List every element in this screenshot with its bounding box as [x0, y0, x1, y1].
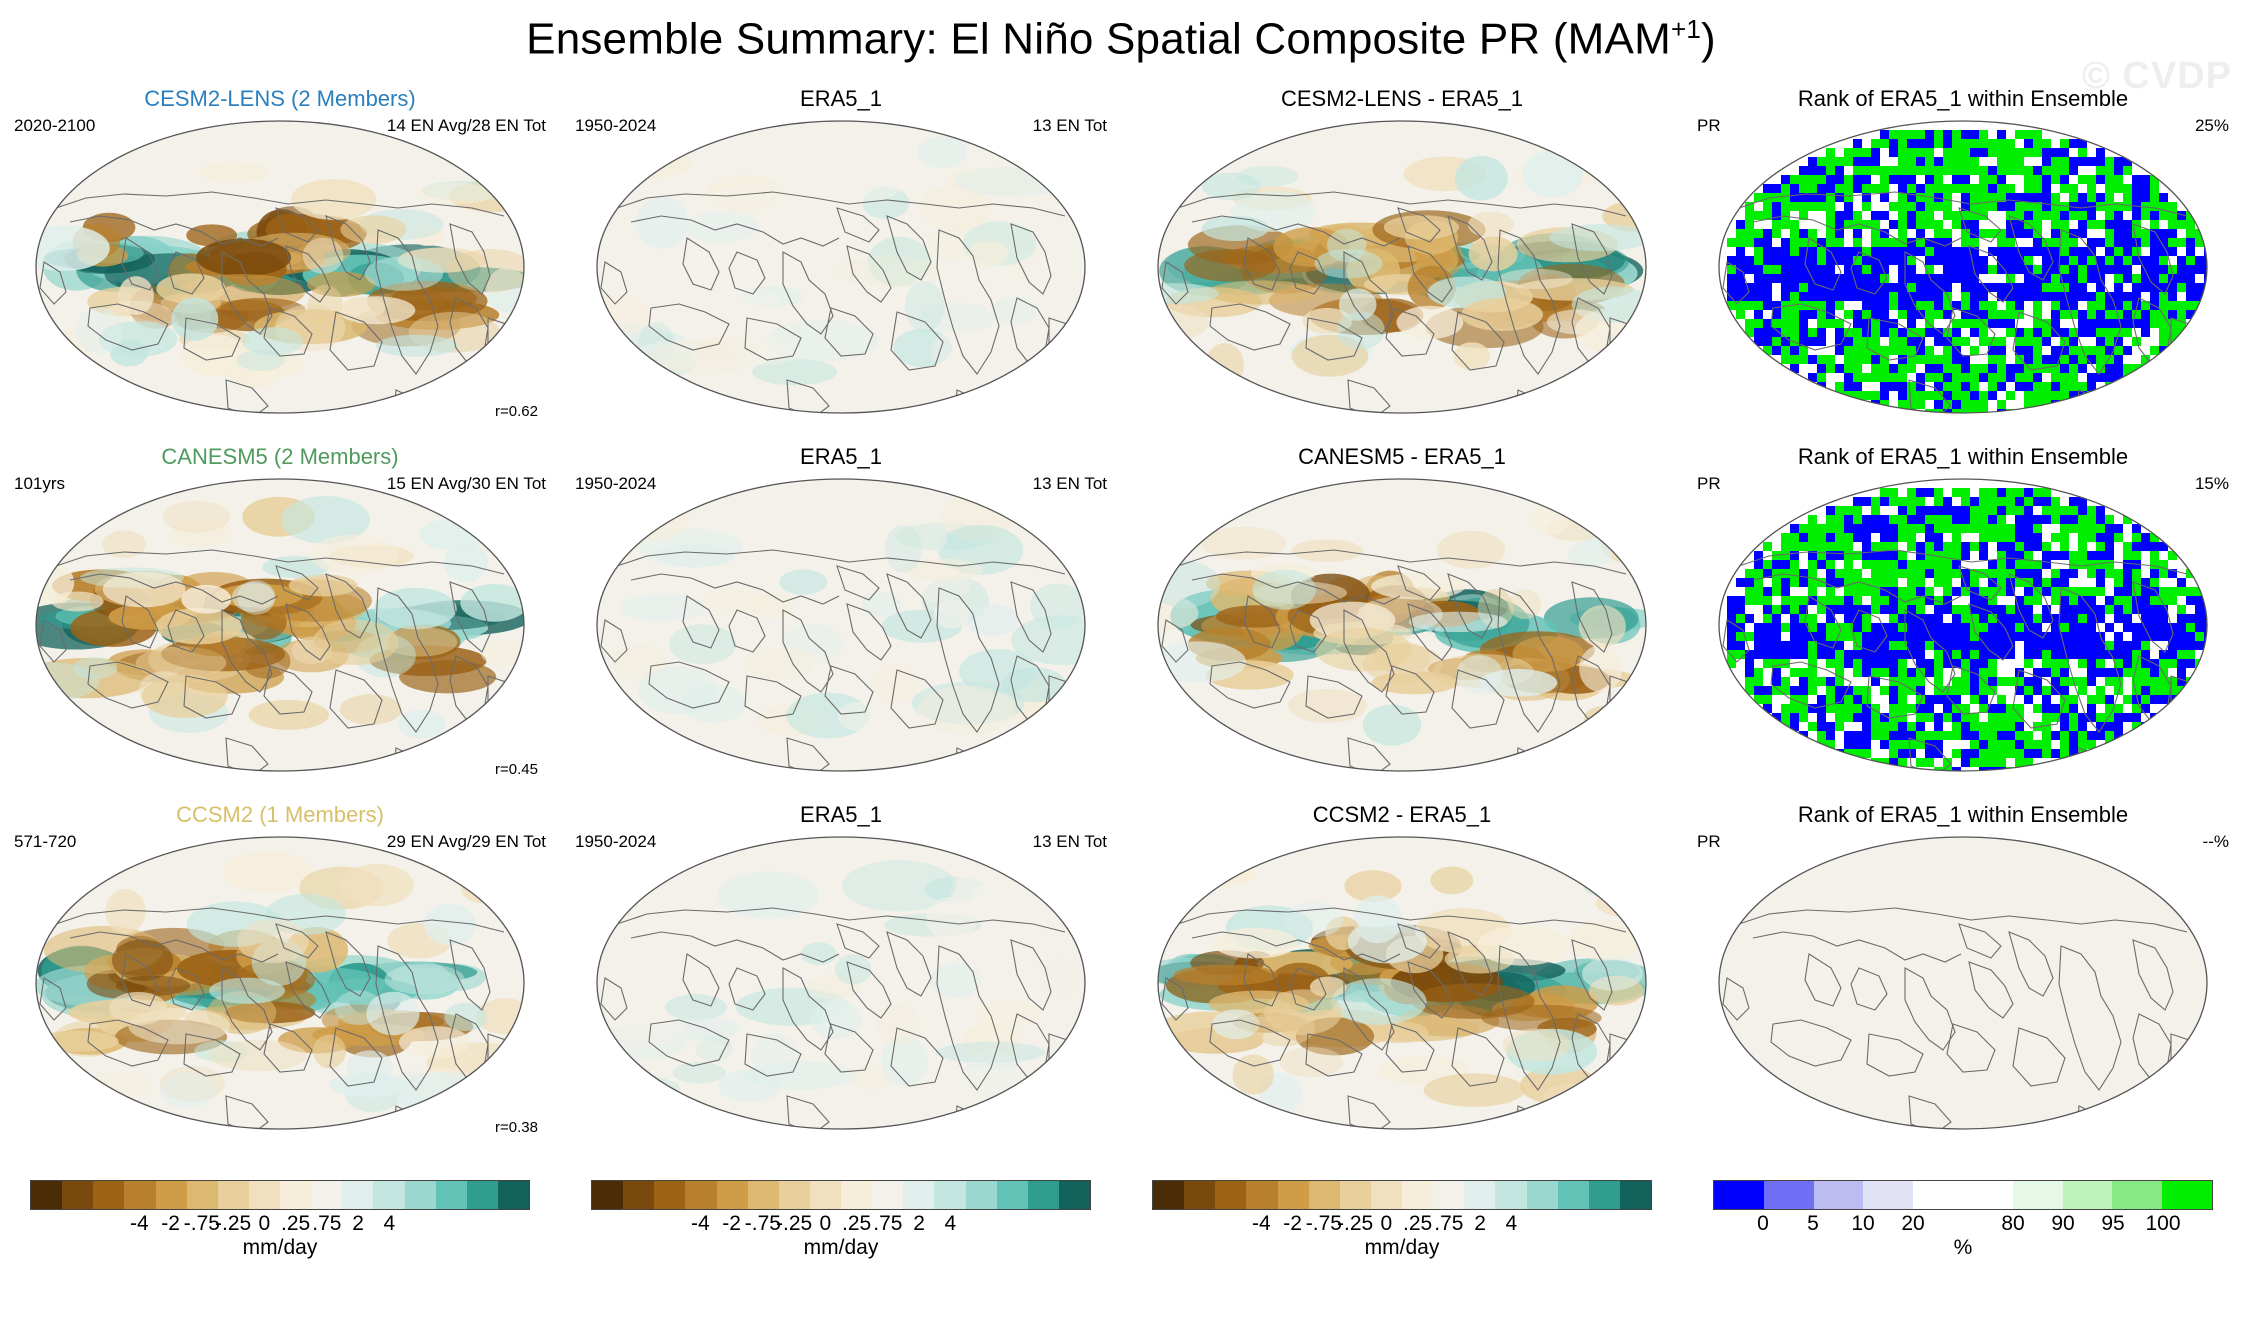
panel-title: CCSM2 - ERA5_1 [1122, 802, 1682, 828]
panel-row: CESM2-LENS (2 Members) 2020-210014 EN Av… [0, 86, 2242, 444]
colorbar-swatch [311, 1181, 342, 1209]
colorbar-swatch [1464, 1181, 1495, 1209]
page-title: Ensemble Summary: El Niño Spatial Compos… [0, 14, 2242, 65]
panel-row: CCSM2 (1 Members) 571-72029 EN Avg/29 EN… [0, 802, 2242, 1160]
colorbar-swatch [2162, 1181, 2212, 1209]
colorbar-swatch [654, 1181, 685, 1209]
panel-members: 13 EN Tot [1033, 474, 1107, 494]
panel-title: CESM2-LENS (2 Members) [0, 86, 560, 112]
colorbar-tick-label: 90 [2051, 1212, 2074, 1236]
colorbar-swatch [1963, 1181, 2013, 1209]
globe-canvas [1148, 828, 1656, 1138]
panel-rank-percent: --% [2203, 832, 2229, 852]
colorbar-tick-label: -.25 [215, 1212, 251, 1236]
colorbar-swatch [405, 1181, 436, 1209]
colorbar-swatch [2063, 1181, 2113, 1209]
map-panel-model[interactable]: CANESM5 (2 Members) 101yrs15 EN Avg/30 E… [0, 444, 560, 802]
colorbar-swatch [156, 1181, 187, 1209]
colorbar-swatch [1814, 1181, 1864, 1209]
panel-period: 2020-2100 [14, 116, 95, 136]
colorbar-swatch [249, 1181, 280, 1209]
map-panel-model[interactable]: CCSM2 (1 Members) 571-72029 EN Avg/29 EN… [0, 802, 560, 1160]
globe-canvas [26, 112, 534, 422]
colorbar-tick-label: 10 [1851, 1212, 1874, 1236]
panel-title: CANESM5 (2 Members) [0, 444, 560, 470]
globe-map[interactable] [1709, 828, 2217, 1138]
globe-canvas [1148, 112, 1656, 422]
colorbar-swatch [124, 1181, 155, 1209]
colorbar-tick-label: 100 [2145, 1212, 2180, 1236]
colorbar-tick-label: 0 [820, 1212, 832, 1236]
globe-map[interactable] [587, 112, 1095, 422]
colorbar-tick-label: .75 [1434, 1212, 1463, 1236]
panel-title: Rank of ERA5_1 within Ensemble [1683, 444, 2242, 470]
colorbar-tick-label: -2 [722, 1212, 741, 1236]
colorbar-swatch [218, 1181, 249, 1209]
colorbar-swatch [872, 1181, 903, 1209]
colorbar-rank: 051020809095100% [1683, 1172, 2242, 1268]
globe-map[interactable] [1709, 470, 2217, 780]
map-panel-diff[interactable]: CESM2-LENS - ERA5_1 [1122, 86, 1682, 444]
colorbar-swatch [592, 1181, 623, 1209]
globe-canvas [1709, 470, 2217, 780]
panel-period: 1950-2024 [575, 832, 656, 852]
colorbar-unit-label: mm/day [0, 1236, 560, 1260]
colorbar-tick-label: -.25 [1337, 1212, 1373, 1236]
colorbar-swatch [1215, 1181, 1246, 1209]
colorbar-swatch [1714, 1181, 1764, 1209]
colorbar-swatch [1433, 1181, 1464, 1209]
colorbar-tick-label: .25 [1403, 1212, 1432, 1236]
colorbar-ticks: 051020809095100 [1713, 1212, 2213, 1238]
colorbar-swatch [1278, 1181, 1309, 1209]
colorbar-unit-label: mm/day [1122, 1236, 1682, 1260]
globe-canvas [26, 470, 534, 780]
panel-title: Rank of ERA5_1 within Ensemble [1683, 802, 2242, 828]
colorbar-swatch [1309, 1181, 1340, 1209]
colorbar-tick-label: -4 [130, 1212, 149, 1236]
map-panel-rank[interactable]: Rank of ERA5_1 within Ensemble PR15% [1683, 444, 2242, 802]
colorbar-swatch [1913, 1181, 1963, 1209]
colorbar-ticks: -4-2-.75-.250.25.7524 [30, 1212, 530, 1238]
colorbar-tick-label: .25 [281, 1212, 310, 1236]
panel-members: 13 EN Tot [1033, 116, 1107, 136]
colorbar-swatch [966, 1181, 997, 1209]
colorbar-tick-label: 2 [1474, 1212, 1486, 1236]
colorbar-swatches [1713, 1180, 2213, 1210]
colorbar-ticks: -4-2-.75-.250.25.7524 [1152, 1212, 1652, 1238]
globe-map[interactable] [26, 470, 534, 780]
colorbar-tick-label: 80 [2001, 1212, 2024, 1236]
colorbar-swatch [1246, 1181, 1277, 1209]
panel-title: ERA5_1 [561, 86, 1121, 112]
globe-canvas [1148, 470, 1656, 780]
panel-members: 29 EN Avg/29 EN Tot [387, 832, 546, 852]
colorbar-swatch [1153, 1181, 1184, 1209]
colorbar-tick-label: .75 [873, 1212, 902, 1236]
globe-canvas [587, 112, 1095, 422]
colorbar-swatch [31, 1181, 62, 1209]
globe-canvas [26, 828, 534, 1138]
panel-variable-label: PR [1697, 474, 1721, 494]
panel-variable-label: PR [1697, 116, 1721, 136]
colorbar-swatch [1340, 1181, 1371, 1209]
pattern-correlation: r=0.62 [495, 403, 538, 420]
colorbar-tick-label: 95 [2101, 1212, 2124, 1236]
colorbar-tick-label: 0 [1757, 1212, 1769, 1236]
colorbar-swatch [748, 1181, 779, 1209]
colorbar-swatch [2013, 1181, 2063, 1209]
globe-canvas [1709, 112, 2217, 422]
panel-members: 15 EN Avg/30 EN Tot [387, 474, 546, 494]
colorbar-tick-label: .75 [312, 1212, 341, 1236]
map-panel-model[interactable]: CESM2-LENS (2 Members) 2020-210014 EN Av… [0, 86, 560, 444]
globe-map[interactable] [1148, 112, 1656, 422]
colorbar-tick-label: 20 [1901, 1212, 1924, 1236]
colorbar-tick-label: 5 [1807, 1212, 1819, 1236]
panel-title: CESM2-LENS - ERA5_1 [1122, 86, 1682, 112]
colorbar-tick-label: -2 [1283, 1212, 1302, 1236]
colorbar-swatch [187, 1181, 218, 1209]
panel-title: CCSM2 (1 Members) [0, 802, 560, 828]
panel-members: 14 EN Avg/28 EN Tot [387, 116, 546, 136]
colorbar-swatch [93, 1181, 124, 1209]
map-panel-obs[interactable]: ERA5_1 1950-202413 EN Tot [561, 444, 1121, 802]
colorbar-swatches [1152, 1180, 1652, 1210]
globe-canvas [587, 828, 1095, 1138]
colorbar-tick-label: .25 [842, 1212, 871, 1236]
panel-title: ERA5_1 [561, 802, 1121, 828]
panel-period: 101yrs [14, 474, 65, 494]
panel-row: CANESM5 (2 Members) 101yrs15 EN Avg/30 E… [0, 444, 2242, 802]
map-panel-diff[interactable]: CANESM5 - ERA5_1 [1122, 444, 1682, 802]
colorbar-swatch [810, 1181, 841, 1209]
page-title-superscript: +1 [1671, 14, 1701, 44]
panel-variable-label: PR [1697, 832, 1721, 852]
globe-map[interactable] [26, 112, 534, 422]
colorbar-swatch [717, 1181, 748, 1209]
colorbar-swatch [498, 1181, 529, 1209]
colorbar-swatch [62, 1181, 93, 1209]
colorbar-swatch [1059, 1181, 1090, 1209]
colorbar-swatch [623, 1181, 654, 1209]
colorbar-swatch [1495, 1181, 1526, 1209]
panel-period: 571-720 [14, 832, 76, 852]
colorbar-tick-label: -4 [1252, 1212, 1271, 1236]
panel-period: 1950-2024 [575, 116, 656, 136]
page-title-tail: ) [1701, 15, 1716, 64]
colorbar-tick-label: 4 [945, 1212, 957, 1236]
colorbar-unit-label: mm/day [561, 1236, 1121, 1260]
colorbar-tick-label: 2 [913, 1212, 925, 1236]
panel-title: CANESM5 - ERA5_1 [1122, 444, 1682, 470]
globe-canvas [1709, 828, 2217, 1138]
colorbar-pr-model: -4-2-.75-.250.25.7524mm/day [0, 1172, 560, 1268]
colorbar-tick-label: -4 [691, 1212, 710, 1236]
colorbar-swatch [1558, 1181, 1589, 1209]
page-title-main: Ensemble Summary: El Niño Spatial Compos… [526, 15, 1671, 64]
colorbar-swatch [280, 1181, 311, 1209]
map-panel-obs[interactable]: ERA5_1 1950-202413 EN Tot [561, 86, 1121, 444]
colorbar-swatch [1863, 1181, 1913, 1209]
colorbar-tick-label: 0 [1381, 1212, 1393, 1236]
map-panel-rank[interactable]: Rank of ERA5_1 within Ensemble PR--% [1683, 802, 2242, 1160]
colorbar-swatch [1527, 1181, 1558, 1209]
colorbar-swatch [1402, 1181, 1433, 1209]
colorbar-tick-label: 4 [384, 1212, 396, 1236]
colorbar-swatch [779, 1181, 810, 1209]
colorbar-tick-label: -.25 [776, 1212, 812, 1236]
colorbar-swatch [1764, 1181, 1814, 1209]
panel-rank-percent: 25% [2195, 116, 2229, 136]
panel-title: ERA5_1 [561, 444, 1121, 470]
colorbar-swatch [1589, 1181, 1620, 1209]
pattern-correlation: r=0.38 [495, 1119, 538, 1136]
colorbar-swatch [373, 1181, 404, 1209]
colorbar-swatch [436, 1181, 467, 1209]
colorbar-swatch [1028, 1181, 1059, 1209]
colorbar-swatches [591, 1180, 1091, 1210]
colorbar-swatch [1620, 1181, 1651, 1209]
panel-members: 13 EN Tot [1033, 832, 1107, 852]
globe-map[interactable] [587, 828, 1095, 1138]
panel-period: 1950-2024 [575, 474, 656, 494]
colorbar-ticks: -4-2-.75-.250.25.7524 [591, 1212, 1091, 1238]
colorbar-swatch [997, 1181, 1028, 1209]
pattern-correlation: r=0.45 [495, 761, 538, 778]
globe-map[interactable] [587, 470, 1095, 780]
globe-map[interactable] [1148, 828, 1656, 1138]
colorbar-swatch [467, 1181, 498, 1209]
colorbar-unit-label: % [1683, 1236, 2242, 1260]
colorbar-tick-label: 2 [352, 1212, 364, 1236]
colorbar-swatch [934, 1181, 965, 1209]
globe-map[interactable] [1709, 112, 2217, 422]
colorbar-tick-label: -2 [161, 1212, 180, 1236]
colorbar-swatch [1371, 1181, 1402, 1209]
globe-canvas [587, 470, 1095, 780]
colorbar-swatch [1184, 1181, 1215, 1209]
map-panel-diff[interactable]: CCSM2 - ERA5_1 [1122, 802, 1682, 1160]
colorbar-swatch [685, 1181, 716, 1209]
map-panel-rank[interactable]: Rank of ERA5_1 within Ensemble PR25% [1683, 86, 2242, 444]
colorbar-tick-label: 0 [259, 1212, 271, 1236]
colorbar-tick-label: 4 [1506, 1212, 1518, 1236]
globe-map[interactable] [26, 828, 534, 1138]
panel-grid: CESM2-LENS (2 Members) 2020-210014 EN Av… [0, 86, 2242, 1160]
panel-title: Rank of ERA5_1 within Ensemble [1683, 86, 2242, 112]
panel-rank-percent: 15% [2195, 474, 2229, 494]
colorbar-swatch [841, 1181, 872, 1209]
colorbar-pr-obs: -4-2-.75-.250.25.7524mm/day [561, 1172, 1121, 1268]
globe-map[interactable] [1148, 470, 1656, 780]
colorbar-swatch [903, 1181, 934, 1209]
colorbar-swatch [2112, 1181, 2162, 1209]
colorbar-pr-diff: -4-2-.75-.250.25.7524mm/day [1122, 1172, 1682, 1268]
map-panel-obs[interactable]: ERA5_1 1950-202413 EN Tot [561, 802, 1121, 1160]
colorbar-swatch [342, 1181, 373, 1209]
colorbar-row: -4-2-.75-.250.25.7524mm/day-4-2-.75-.250… [0, 1172, 2242, 1268]
colorbar-swatches [30, 1180, 530, 1210]
